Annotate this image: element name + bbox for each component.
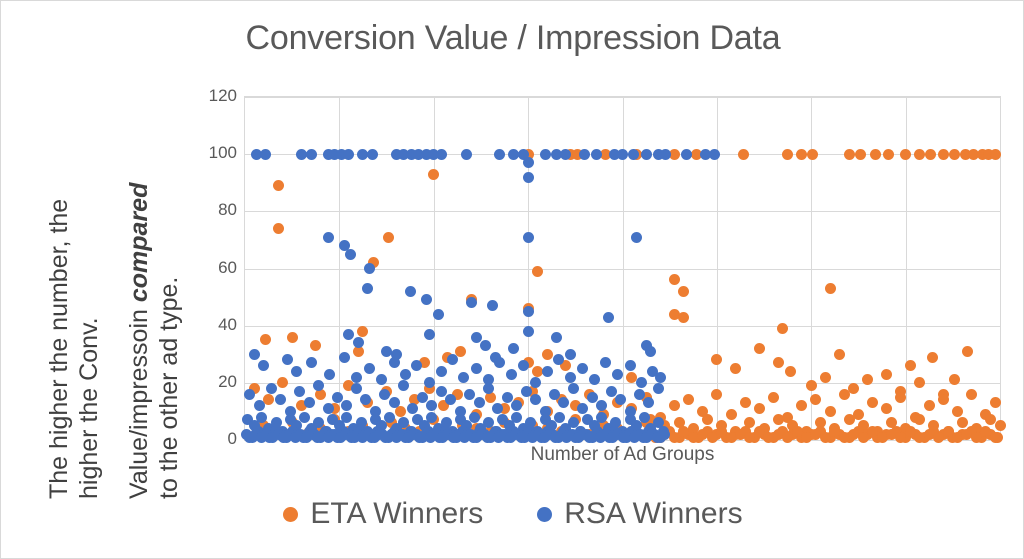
scatter-point: [266, 383, 277, 394]
scatter-point: [740, 397, 751, 408]
scatter-point: [554, 412, 565, 423]
scatter-point: [436, 149, 447, 160]
scatter-point: [796, 149, 807, 160]
scatter-point: [834, 349, 845, 360]
scatter-point: [657, 429, 668, 440]
scatter-point: [466, 297, 477, 308]
scatter-point: [304, 397, 315, 408]
plot-area: [244, 96, 1001, 441]
scatter-point: [905, 360, 916, 371]
scatter-point: [773, 414, 784, 425]
scatter-point: [639, 412, 650, 423]
y-axis-title-line-2: higher the Conv.: [75, 317, 104, 499]
scatter-point: [532, 266, 543, 277]
scatter-point: [260, 334, 271, 345]
scatter-point: [511, 412, 522, 423]
y-axis-title-line-1: The higher the number, the: [45, 199, 74, 499]
scatter-point: [324, 369, 335, 380]
y-axis-tick-label: 60: [191, 258, 237, 278]
scatter-point: [678, 286, 689, 297]
scatter-point: [577, 403, 588, 414]
scatter-point: [518, 360, 529, 371]
chart-legend: ETA WinnersRSA Winners: [1, 497, 1024, 531]
scatter-point: [914, 414, 925, 425]
scatter-point: [825, 283, 836, 294]
scatter-point: [806, 380, 817, 391]
scatter-point: [275, 394, 286, 405]
scatter-point: [883, 149, 894, 160]
scatter-point: [551, 332, 562, 343]
scatter-point: [568, 383, 579, 394]
scatter-point: [424, 377, 435, 388]
scatter-point: [494, 149, 505, 160]
scatter-point: [353, 337, 364, 348]
scatter-point: [523, 172, 534, 183]
scatter-point: [924, 400, 935, 411]
scatter-point: [990, 432, 1001, 443]
legend-item[interactable]: RSA Winners: [537, 497, 742, 531]
y-axis-tick-label: 0: [191, 429, 237, 449]
scatter-point: [523, 157, 534, 168]
scatter-point: [711, 354, 722, 365]
scatter-point: [258, 360, 269, 371]
scatter-point: [577, 363, 588, 374]
legend-label: ETA Winners: [310, 497, 483, 531]
scatter-point: [900, 149, 911, 160]
scatter-point: [480, 340, 491, 351]
scatter-point: [914, 377, 925, 388]
scatter-point: [506, 369, 517, 380]
scatter-point: [820, 372, 831, 383]
y-axis-title-line-4: to the other ad type.: [155, 277, 184, 499]
scatter-point: [591, 149, 602, 160]
scatter-point: [777, 323, 788, 334]
scatter-point: [508, 343, 519, 354]
scatter-point: [487, 300, 498, 311]
scatter-point: [428, 169, 439, 180]
scatter-point: [617, 149, 628, 160]
scatter-point: [530, 377, 541, 388]
scatter-point: [925, 149, 936, 160]
scatter-point: [702, 414, 713, 425]
scatter-point: [560, 149, 571, 160]
scatter-point: [848, 383, 859, 394]
scatter-point: [990, 397, 1001, 408]
y-axis-title: The higher the number, the higher the Co…: [15, 91, 205, 501]
scatter-point: [343, 329, 354, 340]
scatter-point: [540, 149, 551, 160]
scatter-point: [345, 249, 356, 260]
scatter-point: [299, 412, 310, 423]
scatter-point: [447, 354, 458, 365]
scatter-point: [726, 409, 737, 420]
y-axis-title-emphasis: compared: [125, 183, 153, 302]
y-axis-title-line-3: Value/impressoin compared: [125, 183, 154, 499]
scatter-point: [341, 400, 352, 411]
y-axis-tick-labels: 120100806040200: [187, 96, 237, 441]
scatter-point: [683, 394, 694, 405]
scatter-point: [785, 366, 796, 377]
scatter-point: [291, 366, 302, 377]
scatter-point: [653, 383, 664, 394]
scatter-point: [606, 386, 617, 397]
scatter-point: [711, 389, 722, 400]
scatter-point: [825, 406, 836, 417]
scatter-point: [768, 392, 779, 403]
scatter-point: [494, 357, 505, 368]
y-axis-tick-label: 40: [191, 315, 237, 335]
scatter-point: [612, 369, 623, 380]
legend-label: RSA Winners: [564, 497, 742, 531]
scatter-point: [914, 149, 925, 160]
scatter-point: [362, 283, 373, 294]
scatter-point: [587, 392, 598, 403]
scatter-point: [483, 383, 494, 394]
scatter-point: [782, 149, 793, 160]
scatter-point: [631, 232, 642, 243]
scatter-point: [294, 386, 305, 397]
scatter-point: [966, 389, 977, 400]
scatter-point: [323, 403, 334, 414]
scatter-point: [669, 400, 680, 411]
scatter-point: [855, 149, 866, 160]
scatter-point: [881, 369, 892, 380]
scatter-point: [625, 360, 636, 371]
scatter-point: [424, 329, 435, 340]
scatter-point: [730, 363, 741, 374]
scatter-point: [839, 389, 850, 400]
scatter-point: [426, 400, 437, 411]
legend-marker-icon: [537, 507, 552, 522]
scatter-point: [398, 380, 409, 391]
scatter-point: [807, 149, 818, 160]
scatter-point: [379, 389, 390, 400]
scatter-point: [844, 149, 855, 160]
scatter-point: [853, 409, 864, 420]
scatter-point: [754, 403, 765, 414]
scatter-point: [277, 377, 288, 388]
scatter-point: [364, 363, 375, 374]
scatter-point: [464, 389, 475, 400]
scatter-point: [949, 149, 960, 160]
scatter-point: [938, 149, 949, 160]
scatter-point: [389, 357, 400, 368]
scatter-point: [565, 372, 576, 383]
scatter-point: [260, 149, 271, 160]
scatter-point: [995, 420, 1006, 431]
scatter-point: [405, 286, 416, 297]
scatter-point: [411, 360, 422, 371]
scatter-point: [636, 377, 647, 388]
scatter-point: [938, 394, 949, 405]
scatter-point: [511, 400, 522, 411]
scatter-point: [709, 149, 720, 160]
scatter-point: [426, 412, 437, 423]
y-axis-tick-label: 20: [191, 372, 237, 392]
scatter-point: [367, 149, 378, 160]
scatter-point: [389, 397, 400, 408]
scatter-point: [395, 406, 406, 417]
legend-marker-icon: [283, 507, 298, 522]
scatter-point: [436, 366, 447, 377]
scatter-point: [287, 332, 298, 343]
scatter-point: [474, 397, 485, 408]
scatter-point: [383, 232, 394, 243]
chart-title: Conversion Value / Impression Data: [1, 19, 1024, 58]
y-axis-tick-label: 120: [191, 86, 237, 106]
scatter-point: [471, 332, 482, 343]
scatter-point: [796, 400, 807, 411]
scatter-point: [773, 357, 784, 368]
scatter-point: [600, 357, 611, 368]
scatter-point: [339, 352, 350, 363]
scatter-point: [641, 149, 652, 160]
scatter-point: [351, 372, 362, 383]
scatter-point: [471, 363, 482, 374]
scatter-point: [254, 400, 265, 411]
scatter-point: [407, 403, 418, 414]
scatter-point: [565, 349, 576, 360]
scatter-point: [458, 372, 469, 383]
scatter-point: [263, 394, 274, 405]
scatter-point: [523, 306, 534, 317]
scatter-point: [655, 372, 666, 383]
scatter-point: [669, 274, 680, 285]
scatter-point: [628, 149, 639, 160]
scatter-point: [615, 394, 626, 405]
scatter-point: [867, 397, 878, 408]
scatter-point: [343, 149, 354, 160]
scatter-point: [962, 346, 973, 357]
scatter-point: [678, 312, 689, 323]
chart-image: Conversion Value / Impression Data The h…: [0, 0, 1024, 559]
scatter-point: [579, 149, 590, 160]
scatter-point: [990, 149, 1001, 160]
scatter-point: [881, 403, 892, 414]
scatter-point: [542, 349, 553, 360]
y-axis-tick-label: 100: [191, 143, 237, 163]
scatter-point: [754, 343, 765, 354]
scatter-point: [870, 149, 881, 160]
scatter-point: [445, 394, 456, 405]
scatter-point: [469, 412, 480, 423]
scatter-point: [603, 312, 614, 323]
scatter-point: [400, 369, 411, 380]
scatter-point: [357, 326, 368, 337]
scatter-point: [421, 294, 432, 305]
scatter-point: [323, 232, 334, 243]
scatter-point: [417, 392, 428, 403]
scatter-point: [273, 223, 284, 234]
y-axis-title-line-3-plain: Value/impressoin: [125, 302, 153, 499]
scatter-point: [249, 349, 260, 360]
scatter-point: [558, 397, 569, 408]
scatter-point: [306, 149, 317, 160]
scatter-point: [542, 366, 553, 377]
scatter-point: [523, 326, 534, 337]
legend-item[interactable]: ETA Winners: [283, 497, 483, 531]
scatter-point: [351, 383, 362, 394]
scatter-point: [364, 263, 375, 274]
scatter-point: [681, 149, 692, 160]
scatter-point: [927, 352, 938, 363]
scatter-point: [643, 397, 654, 408]
scatter-point: [282, 354, 293, 365]
x-axis-title: Number of Ad Groups: [244, 444, 1001, 466]
scatter-point: [530, 394, 541, 405]
scatter-point: [523, 232, 534, 243]
scatter-point: [810, 394, 821, 405]
scatter-point: [461, 149, 472, 160]
scatter-point: [895, 392, 906, 403]
scatter-point: [502, 392, 513, 403]
scatter-point: [952, 406, 963, 417]
scatter-point: [384, 412, 395, 423]
scatter-point: [273, 180, 284, 191]
scatter-point: [596, 412, 607, 423]
scatter-point: [645, 346, 656, 357]
scatter-point: [341, 412, 352, 423]
y-axis-tick-label: 80: [191, 200, 237, 220]
scatter-point: [310, 340, 321, 351]
scatter-point: [844, 414, 855, 425]
scatter-point: [306, 357, 317, 368]
scatter-point: [738, 149, 749, 160]
scatter-point: [244, 389, 255, 400]
scatter-point: [957, 417, 968, 428]
scatter-point: [433, 309, 444, 320]
